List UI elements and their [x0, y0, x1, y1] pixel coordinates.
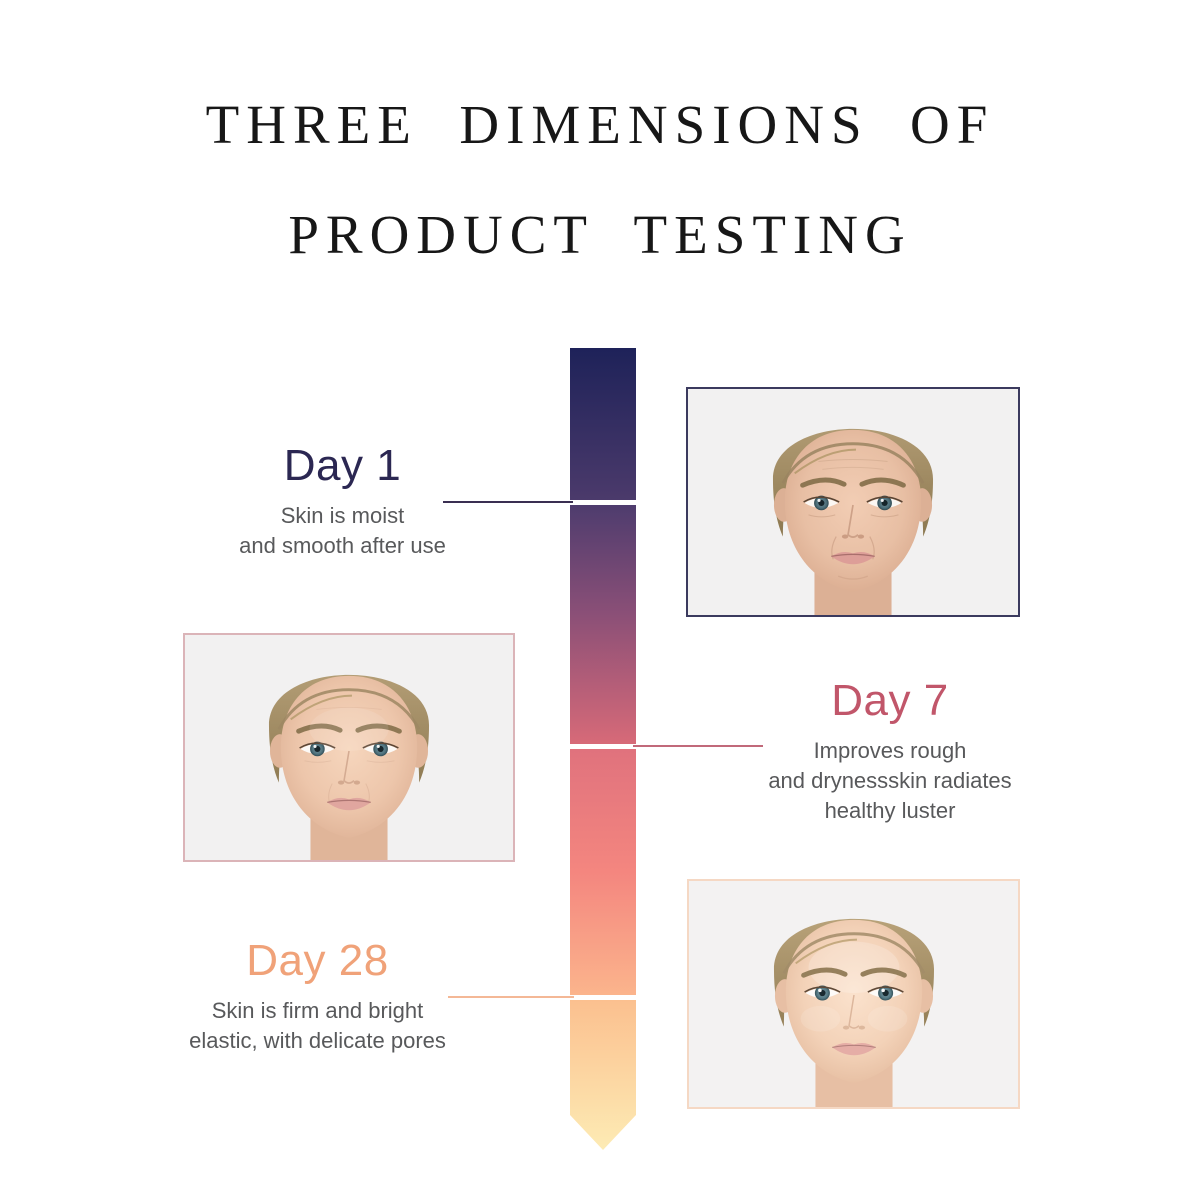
- day28-heading: Day 28: [140, 935, 495, 987]
- timeline-segment-day1: [570, 348, 636, 500]
- stage-text-day1: Day 1 Skin is moist and smooth after use: [150, 440, 535, 561]
- day7-heading: Day 7: [735, 675, 1045, 727]
- face-photo-day1: [686, 387, 1020, 617]
- day1-heading: Day 1: [150, 440, 535, 492]
- stage-text-day28: Day 28 Skin is firm and bright elastic, …: [140, 935, 495, 1056]
- day28-description: Skin is firm and bright elastic, with de…: [140, 996, 495, 1056]
- timeline-segment-tail: [570, 1000, 636, 1150]
- title-line-2: PRODUCT TESTING: [0, 180, 1200, 290]
- stage-text-day7: Day 7 Improves rough and drynessskin rad…: [735, 675, 1045, 826]
- title-line-1: THREE DIMENSIONS OF: [0, 70, 1200, 180]
- gradient-timeline-bar: [570, 348, 636, 1150]
- face-photo-day28: [687, 879, 1020, 1109]
- day1-description: Skin is moist and smooth after use: [150, 501, 535, 561]
- timeline-segment-day28: [570, 749, 636, 995]
- day7-description: Improves rough and drynessskin radiates …: [735, 736, 1045, 826]
- infographic-page: THREE DIMENSIONS OF PRODUCT TESTING: [0, 0, 1200, 1200]
- page-title: THREE DIMENSIONS OF PRODUCT TESTING: [0, 70, 1200, 290]
- timeline-segment-day7: [570, 505, 636, 744]
- face-photo-day7: [183, 633, 515, 862]
